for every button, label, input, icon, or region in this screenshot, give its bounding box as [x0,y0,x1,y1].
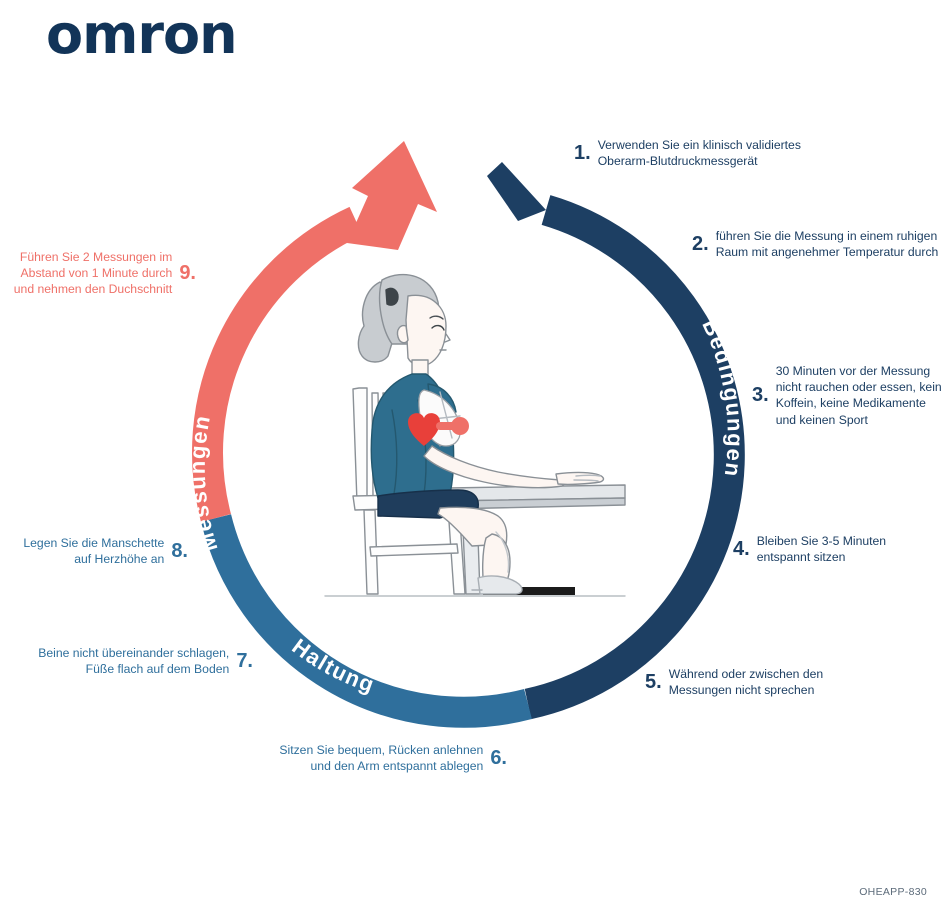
step-callout-6: Sitzen Sie bequem, Rücken anlehnen und d… [258,742,507,774]
step-callout-1: 1. Verwenden Sie ein klinisch validierte… [574,137,934,169]
step-number-1: 1. [574,143,591,163]
document-code: OHEAPP-830 [859,886,927,898]
step-number-5: 5. [645,672,662,692]
step-callout-7: Beine nicht übereinander schlagen, Füße … [20,645,253,677]
step-text-6: Sitzen Sie bequem, Rücken anlehnen und d… [279,742,483,774]
seated-woman-illustration [320,260,630,610]
arc-label-bedingungen: Bedingungen [697,315,747,479]
step-callout-2: 2. führen Sie die Messung in einem ruhig… [692,228,945,260]
step-text-5: Während oder zwischen den Messungen nich… [669,666,823,698]
step-callout-8: Legen Sie die Manschette auf Herzhöhe an… [8,535,188,567]
step-number-2: 2. [692,234,709,254]
step-text-1: Verwenden Sie ein klinisch validiertes O… [598,137,801,169]
slipper [478,576,522,594]
step-text-2: führen Sie die Messung in einem ruhigen … [716,228,939,260]
hand [556,473,603,485]
step-text-3: 30 Minuten vor der Messung nicht rauchen… [776,363,942,428]
step-number-6: 6. [490,748,507,768]
step-callout-9: Führen Sie 2 Messungen im Abstand von 1 … [6,249,196,298]
step-number-4: 4. [733,539,750,559]
step-number-8: 8. [171,541,188,561]
step-number-3: 3. [752,385,769,405]
step-callout-5: 5. Während oder zwischen den Messungen n… [645,666,875,698]
face [406,295,446,365]
step-number-9: 9. [179,263,196,283]
step-text-8: Legen Sie die Manschette auf Herzhöhe an [23,535,164,567]
hair-tie [386,288,398,305]
step-text-7: Beine nicht übereinander schlagen, Füße … [38,645,229,677]
infographic-canvas: omron Bedingungen Haltung [0,0,945,912]
step-text-4: Bleiben Sie 3-5 Minuten entspannt sitzen [757,533,886,565]
step-callout-4: 4. Bleiben Sie 3-5 Minuten entspannt sit… [733,533,945,565]
step-callout-3: 3. 30 Minuten vor der Messung nicht rauc… [752,363,945,428]
arrow-head-icon [347,141,437,250]
step-text-9: Führen Sie 2 Messungen im Abstand von 1 … [14,249,173,298]
step-number-7: 7. [236,651,253,671]
